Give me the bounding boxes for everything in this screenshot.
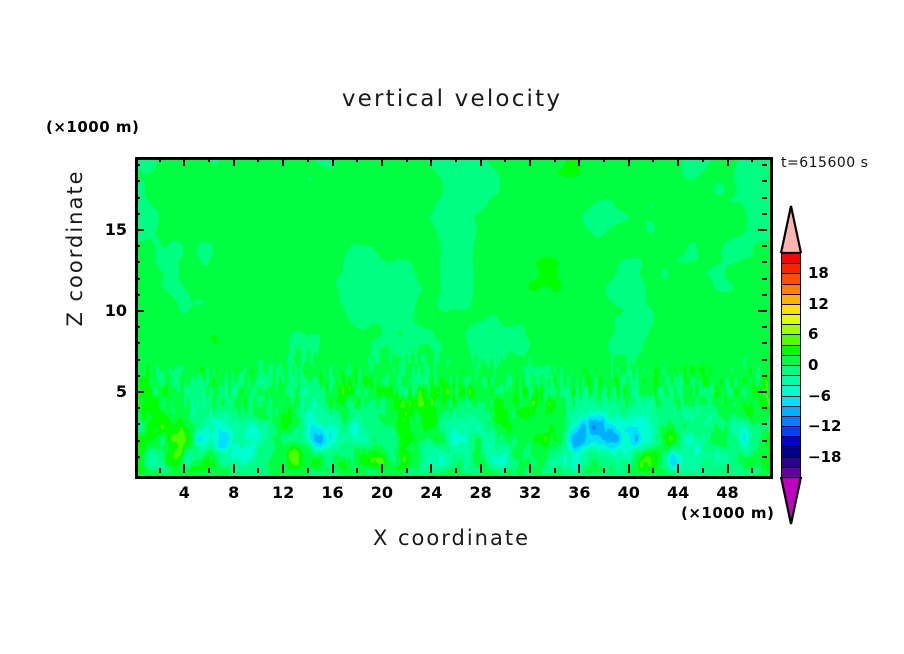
x-axis-tick: [183, 464, 185, 473]
x-axis-tick: [381, 464, 383, 473]
colorbar-tick-label: 12: [808, 295, 829, 313]
y-axis-tick: [762, 164, 767, 166]
y-axis-tick: [135, 245, 140, 247]
x-axis-tick: [652, 468, 654, 473]
velocity-field-canvas: [138, 160, 770, 476]
y-axis-tick: [135, 440, 140, 442]
x-axis-tick: [554, 468, 556, 473]
colorbar-over-cap: [778, 205, 804, 253]
x-axis-tick: [677, 157, 679, 166]
x-axis-tick: [282, 464, 284, 473]
x-axis-tick: [727, 157, 729, 166]
y-axis-tick: [135, 359, 140, 361]
y-axis-tick: [762, 278, 767, 280]
x-axis-tick: [332, 464, 334, 473]
x-tick-label: 8: [214, 483, 254, 502]
y-axis-tick: [762, 261, 767, 263]
y-tick-label: 5: [87, 382, 127, 401]
x-axis-title: X coordinate: [135, 526, 768, 550]
x-axis-tick: [628, 464, 630, 473]
x-axis-tick: [727, 464, 729, 473]
y-axis-tick: [758, 310, 767, 312]
x-axis-tick: [702, 468, 704, 473]
x-tick-label: 28: [461, 483, 501, 502]
y-axis-tick: [758, 229, 767, 231]
x-axis-tick: [159, 468, 161, 473]
x-axis-tick: [307, 157, 309, 162]
y-axis-tick: [762, 180, 767, 182]
x-axis-tick: [233, 157, 235, 166]
colorbar: [778, 205, 804, 525]
x-tick-label: 36: [559, 483, 599, 502]
x-tick-label: 12: [263, 483, 303, 502]
y-axis-tick: [135, 213, 140, 215]
y-axis-tick: [758, 391, 767, 393]
y-axis-unit-label: (×1000 m): [46, 118, 139, 136]
y-axis-tick: [135, 407, 140, 409]
y-tick-label: 10: [87, 301, 127, 320]
colorbar-tick-label: −12: [808, 417, 841, 435]
y-axis-tick: [762, 213, 767, 215]
x-tick-label: 20: [362, 483, 402, 502]
x-axis-tick: [480, 157, 482, 166]
x-tick-label: 4: [164, 483, 204, 502]
x-axis-tick: [381, 157, 383, 166]
x-axis-tick: [406, 157, 408, 162]
x-axis-tick: [406, 468, 408, 473]
y-axis-tick: [762, 294, 767, 296]
x-axis-tick: [504, 157, 506, 162]
y-axis-tick: [135, 164, 140, 166]
colorbar-under-cap: [778, 477, 804, 525]
x-axis-tick: [504, 468, 506, 473]
colorbar-tick-label: −6: [808, 387, 831, 405]
x-axis-tick: [578, 157, 580, 166]
x-axis-tick: [455, 157, 457, 162]
x-tick-label: 48: [708, 483, 748, 502]
x-axis-tick: [578, 464, 580, 473]
x-axis-tick: [603, 157, 605, 162]
y-axis-tick: [135, 180, 140, 182]
x-tick-label: 16: [313, 483, 353, 502]
x-axis-tick: [332, 157, 334, 166]
y-axis-tick: [762, 245, 767, 247]
x-tick-label: 24: [411, 483, 451, 502]
y-axis-tick: [135, 294, 140, 296]
x-tick-label: 40: [609, 483, 649, 502]
y-axis-tick: [762, 440, 767, 442]
x-axis-tick: [257, 468, 259, 473]
x-axis-tick: [356, 468, 358, 473]
x-axis-tick: [307, 468, 309, 473]
colorbar-tick-label: −18: [808, 448, 841, 466]
y-axis-tick: [135, 278, 140, 280]
x-axis-tick: [480, 464, 482, 473]
x-axis-tick: [208, 468, 210, 473]
contour-plot-area: [135, 157, 773, 479]
x-axis-tick: [356, 157, 358, 162]
y-axis-tick: [762, 342, 767, 344]
x-axis-tick: [751, 157, 753, 162]
y-axis-tick: [135, 342, 140, 344]
x-axis-tick: [233, 464, 235, 473]
x-axis-tick: [677, 464, 679, 473]
x-axis-tick: [257, 157, 259, 162]
y-axis-tick: [762, 359, 767, 361]
x-axis-tick: [652, 157, 654, 162]
y-axis-title: Z coordinate: [63, 148, 87, 348]
y-axis-tick: [135, 310, 144, 312]
x-axis-tick: [628, 157, 630, 166]
y-axis-tick: [135, 423, 140, 425]
x-axis-tick: [430, 464, 432, 473]
x-axis-tick: [702, 157, 704, 162]
y-tick-label: 15: [87, 220, 127, 239]
x-axis-tick: [554, 157, 556, 162]
y-axis-tick: [135, 456, 140, 458]
x-axis-tick: [430, 157, 432, 166]
y-axis-tick: [135, 326, 140, 328]
x-axis-tick: [603, 468, 605, 473]
x-axis-tick: [208, 157, 210, 162]
colorbar-tick-label: 6: [808, 325, 818, 343]
y-axis-tick: [135, 391, 144, 393]
colorbar-tick-label: 18: [808, 264, 829, 282]
page-title: vertical velocity: [0, 86, 904, 112]
x-axis-unit-label: (×1000 m): [681, 504, 774, 522]
y-axis-tick: [135, 375, 140, 377]
y-axis-tick: [762, 375, 767, 377]
x-axis-tick: [529, 157, 531, 166]
x-tick-label: 32: [510, 483, 550, 502]
x-axis-tick: [529, 464, 531, 473]
x-axis-tick: [751, 468, 753, 473]
y-axis-tick: [762, 456, 767, 458]
y-axis-tick: [135, 261, 140, 263]
x-tick-label: 44: [658, 483, 698, 502]
y-axis-tick: [135, 229, 144, 231]
y-axis-tick: [135, 197, 140, 199]
x-axis-tick: [183, 157, 185, 166]
y-axis-tick: [762, 326, 767, 328]
x-axis-tick: [282, 157, 284, 166]
y-axis-tick: [762, 197, 767, 199]
colorbar-tick-label: 0: [808, 356, 818, 374]
y-axis-tick: [762, 423, 767, 425]
time-annotation: t=615600 s: [781, 155, 868, 171]
x-axis-tick: [455, 468, 457, 473]
x-axis-tick: [159, 157, 161, 162]
y-axis-tick: [762, 407, 767, 409]
